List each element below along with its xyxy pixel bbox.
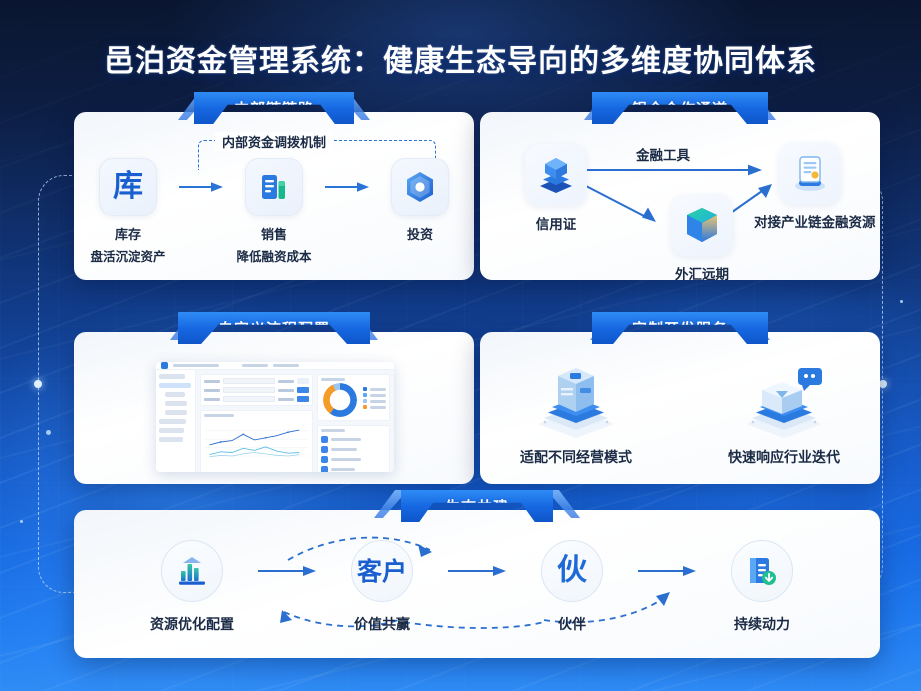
node-fx-forward-label: 外汇远期 xyxy=(648,263,756,283)
arrow-resource-to-customer xyxy=(251,540,323,602)
dashboard-field-label xyxy=(278,389,294,392)
node-customer[interactable]: 客户 价值共赢 xyxy=(323,540,441,634)
color-cube-icon xyxy=(671,194,733,256)
arrow-partner-to-momentum xyxy=(631,540,703,602)
node-customer-label: 价值共赢 xyxy=(323,614,441,634)
node-partner-label: 伙伴 xyxy=(513,614,631,634)
arrow-inventory-to-sales xyxy=(176,158,226,216)
dashboard-field-input[interactable] xyxy=(223,378,275,384)
node-resource-allocation[interactable]: 资源优化配置 xyxy=(133,540,251,634)
background-dot xyxy=(900,300,903,303)
background-dot xyxy=(20,520,23,523)
node-supply-chain-finance[interactable]: 对接产业链金融资源 xyxy=(754,142,866,231)
dashboard-line-chart xyxy=(204,420,309,464)
dashboard-list-title xyxy=(321,429,345,432)
node-continuous-momentum-label: 持续动力 xyxy=(703,614,821,634)
dashboard-field-label xyxy=(204,389,220,392)
right-connector-node xyxy=(879,380,887,388)
dashboard-chart-title xyxy=(204,414,234,417)
item-industry-iteration-label: 快速响应行业迭代 xyxy=(709,447,859,467)
node-sales-label: 销售 xyxy=(226,224,322,243)
custom-development-items: 适配不同经营模式 xyxy=(480,362,880,467)
partner-glyph-text: 伙 xyxy=(557,556,587,586)
dashboard-form-row[interactable] xyxy=(204,396,309,402)
dashboard-field-label xyxy=(204,398,220,401)
node-inventory-sub: 盘活沉淀资产 xyxy=(80,246,176,265)
report-device-icon xyxy=(779,142,841,204)
item-business-mode[interactable]: 适配不同经营模式 xyxy=(501,362,651,467)
bank-channel-flow: 信用证 外汇远期 xyxy=(496,134,866,272)
customer-glyph-text: 客户 xyxy=(357,559,407,584)
dashboard-column-left xyxy=(200,374,313,472)
dashboard-field-label xyxy=(204,380,220,383)
node-resource-allocation-label: 资源优化配置 xyxy=(133,614,251,634)
dashboard-topbar xyxy=(156,362,394,370)
node-continuous-momentum[interactable]: 持续动力 xyxy=(703,540,821,634)
dashboard-chart-panel[interactable] xyxy=(200,410,313,472)
dashboard-form-row[interactable] xyxy=(204,387,309,393)
deploy-box-icon xyxy=(709,362,859,443)
dashboard-sidebar-item[interactable] xyxy=(159,374,185,379)
dashboard-menu-placeholder xyxy=(242,364,268,367)
node-letter-of-credit-label: 信用证 xyxy=(502,213,610,233)
stacked-cube-icon xyxy=(525,144,587,206)
internal-chain-flow: 库 库存 盘活沉淀资产 销售 xyxy=(74,158,474,265)
dashboard-field-label xyxy=(278,380,294,383)
card-ecosystem[interactable]: 生态共建 资源优化配置 xyxy=(74,510,880,658)
item-business-mode-label: 适配不同经营模式 xyxy=(501,447,651,467)
dashboard-filter-panel[interactable] xyxy=(200,374,313,406)
ecosystem-flow: 资源优化配置 客户 价值共赢 伙 伙伴 xyxy=(74,540,880,634)
internal-transfer-loop-label: 内部资金调拨机制 xyxy=(215,132,333,151)
arrow-sales-to-investment xyxy=(322,158,372,216)
node-inventory[interactable]: 库 库存 盘活沉淀资产 xyxy=(80,158,176,265)
card-custom-development[interactable]: 定制开发服务 xyxy=(480,332,880,484)
dashboard-donut-legend xyxy=(363,387,386,411)
dashboard-donut-chart xyxy=(323,383,357,417)
node-inventory-label: 库存 xyxy=(80,224,176,243)
dashboard-logo-icon xyxy=(161,362,168,369)
dashboard-sidebar-item[interactable] xyxy=(159,428,184,433)
card-custom-flow[interactable]: 自定义流程配置 xyxy=(74,332,474,484)
node-investment[interactable]: 投资 xyxy=(372,158,468,246)
card-bank-channel[interactable]: 银企合作通道 信用证 xyxy=(480,112,880,280)
dashboard-field-input[interactable] xyxy=(223,396,275,402)
dashboard-list-item[interactable] xyxy=(321,466,386,472)
sales-document-icon xyxy=(245,158,303,216)
partner-glyph-icon: 伙 xyxy=(541,540,603,602)
dashboard-field-button[interactable] xyxy=(297,396,309,402)
warehouse-glyph-icon: 库 xyxy=(99,158,157,216)
dashboard-field-input[interactable] xyxy=(223,387,275,393)
resource-chart-icon xyxy=(161,540,223,602)
node-investment-label: 投资 xyxy=(372,224,468,243)
card-internal-chain[interactable]: 内部链链路 内部资金调拨机制 库 库存 盘活沉淀资产 xyxy=(74,112,474,280)
dashboard-field-button[interactable] xyxy=(297,378,309,384)
page-title-container: 邑泊资金管理系统：健康生态导向的多维度协同体系 xyxy=(0,36,921,80)
dashboard-sidebar[interactable] xyxy=(156,370,196,472)
document-add-icon xyxy=(731,540,793,602)
server-platform-icon xyxy=(501,362,651,443)
dashboard-brand-placeholder xyxy=(173,364,219,367)
left-connector-node xyxy=(34,380,42,388)
dashboard-body xyxy=(156,370,394,472)
arrow-label-financial-tools: 金融工具 xyxy=(636,144,690,164)
node-partner[interactable]: 伙 伙伴 xyxy=(513,540,631,634)
dashboard-form-row[interactable] xyxy=(204,378,309,384)
node-letter-of-credit[interactable]: 信用证 xyxy=(502,144,610,233)
dashboard-list-item[interactable] xyxy=(321,436,386,443)
item-industry-iteration[interactable]: 快速响应行业迭代 xyxy=(709,362,859,467)
dashboard-list-panel[interactable] xyxy=(317,425,390,472)
dashboard-sidebar-item[interactable] xyxy=(159,419,186,424)
warehouse-glyph-text: 库 xyxy=(113,172,143,202)
dashboard-menu-placeholder xyxy=(273,364,299,367)
node-supply-chain-finance-label: 对接产业链金融资源 xyxy=(754,211,866,231)
dashboard-sidebar-item[interactable] xyxy=(165,410,187,415)
dashboard-sidebar-item[interactable] xyxy=(165,401,187,406)
dashboard-sidebar-item[interactable] xyxy=(159,437,183,442)
arrow-customer-to-partner xyxy=(441,540,513,602)
dashboard-field-label xyxy=(278,398,294,401)
page-title: 邑泊资金管理系统：健康生态导向的多维度协同体系 xyxy=(104,36,817,80)
dashboard-column-right xyxy=(317,374,390,472)
investment-hexagon-icon xyxy=(391,158,449,216)
node-fx-forward[interactable]: 外汇远期 xyxy=(648,194,756,283)
node-sales[interactable]: 销售 降低融资成本 xyxy=(226,158,322,265)
node-sales-sub: 降低融资成本 xyxy=(226,246,322,265)
dashboard-field-button[interactable] xyxy=(297,387,309,393)
dashboard-donut-panel[interactable] xyxy=(317,374,390,421)
dashboard-sidebar-item-active[interactable] xyxy=(159,383,191,388)
dashboard-sidebar-item[interactable] xyxy=(165,392,185,397)
dashboard-list-item[interactable] xyxy=(321,456,386,463)
dashboard-screenshot-mock[interactable] xyxy=(156,362,394,472)
dashboard-list-item[interactable] xyxy=(321,446,386,453)
dashboard-main xyxy=(196,370,394,472)
customer-glyph-icon: 客户 xyxy=(351,540,413,602)
